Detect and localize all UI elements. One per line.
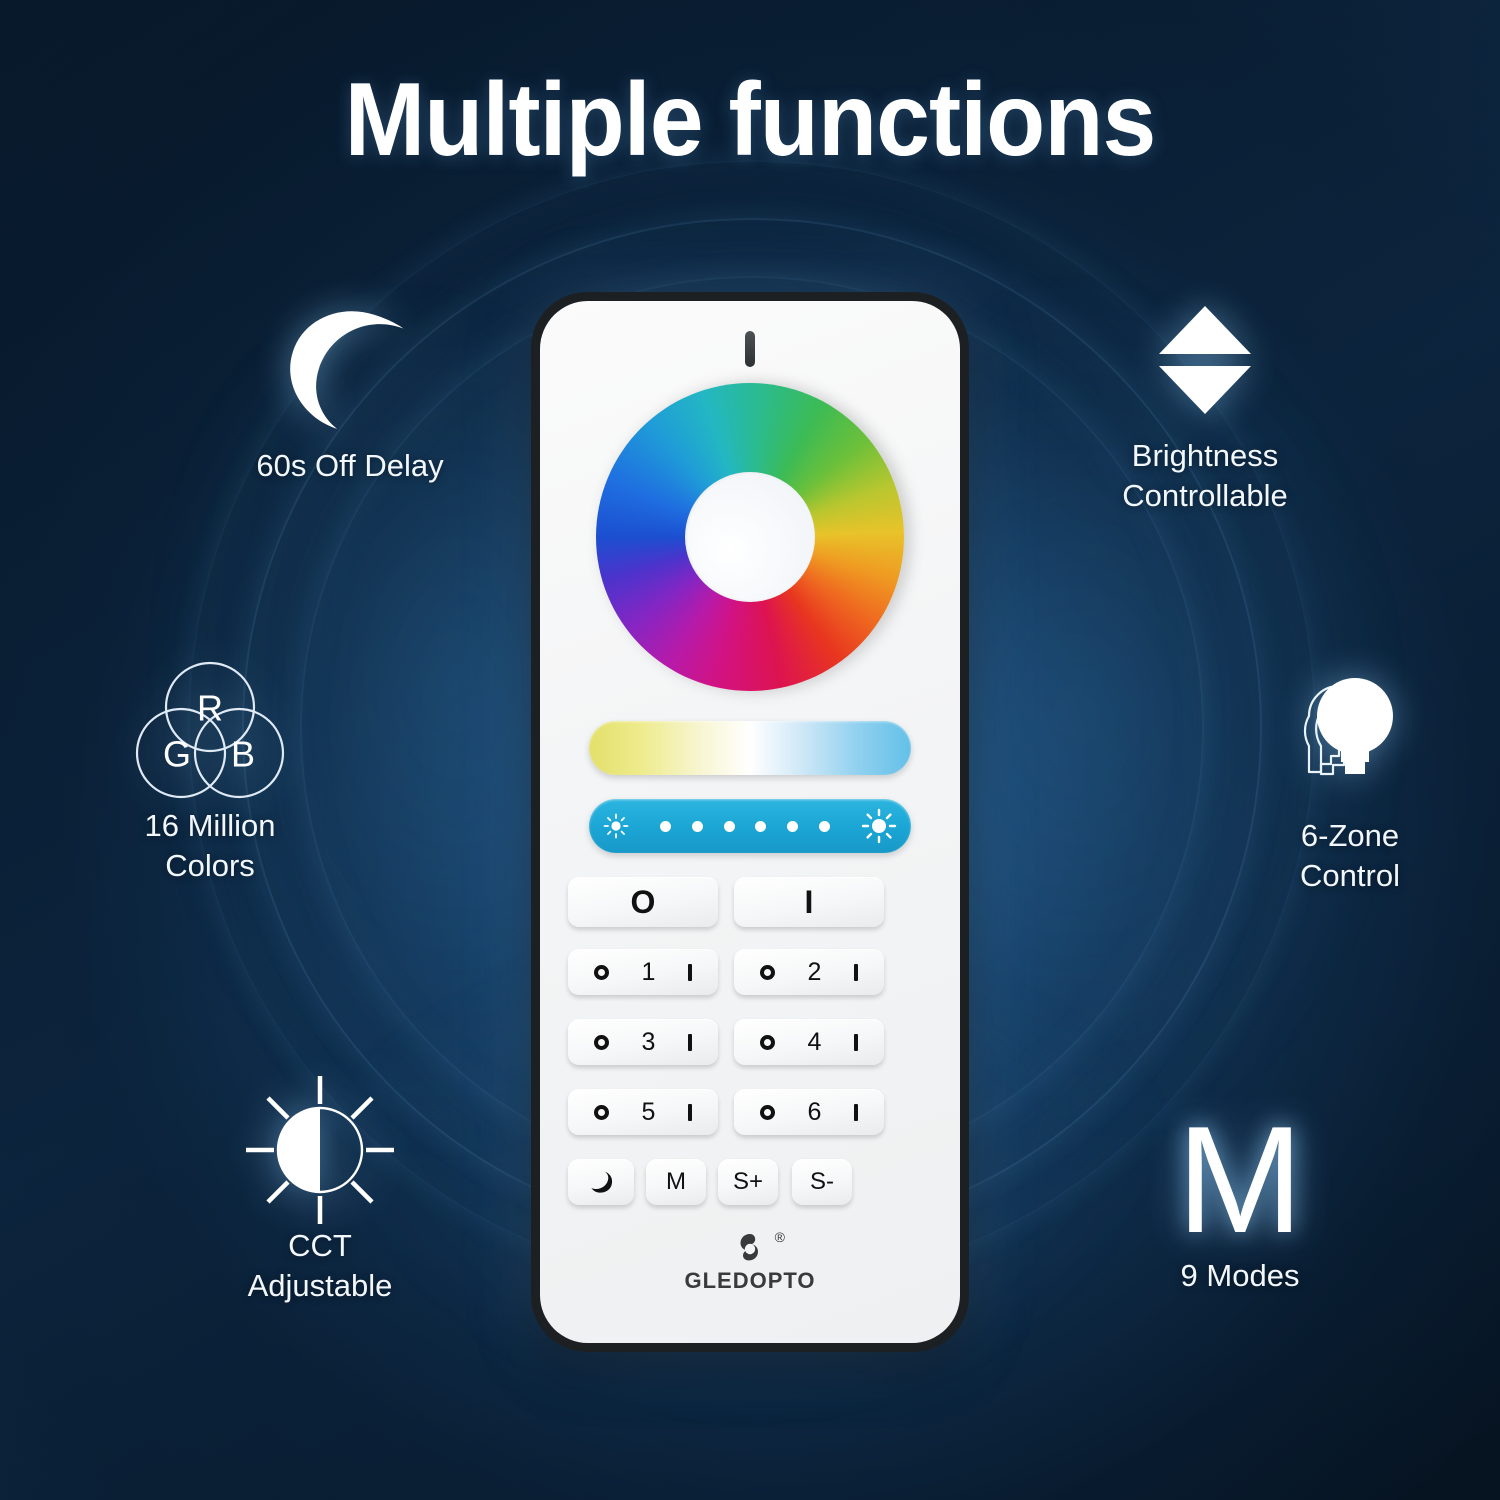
all-on-button[interactable]: I (734, 877, 884, 927)
rgb-color-wheel[interactable] (596, 383, 904, 691)
color-wheel-center-button[interactable] (685, 472, 815, 602)
svg-text:G: G (163, 734, 191, 775)
mode-button-label: M (666, 1168, 686, 1196)
brightness-dot[interactable] (755, 821, 766, 832)
feature-label: 60s Off Delay (160, 446, 540, 486)
brand-logo: ® GLEDOPTO (540, 1231, 960, 1294)
zone-off-icon (760, 965, 775, 980)
mode-button[interactable]: M (646, 1159, 706, 1205)
feature-label: 16 Million Colors (45, 806, 375, 885)
feature-label: Brightness Controllable (1030, 436, 1380, 515)
infographic-canvas: Multiple functions 60s Off Delay R G B 1… (0, 0, 1500, 1500)
speed-up-label: S+ (733, 1168, 763, 1196)
zone-on-icon (854, 1104, 858, 1121)
zone-off-icon (760, 1105, 775, 1120)
speed-down-label: S- (810, 1168, 834, 1196)
all-on-glyph: I (805, 886, 814, 918)
mode-letter: M (1177, 1104, 1304, 1256)
up-down-triangles-icon (1030, 290, 1380, 430)
zone-2-button[interactable]: 2 (734, 949, 884, 995)
svg-text:R: R (197, 688, 223, 729)
zone-3-button[interactable]: 3 (568, 1019, 718, 1065)
feature-off-delay: 60s Off Delay (160, 300, 540, 486)
ir-emitter-icon (745, 331, 755, 367)
crescent-moon-icon (160, 300, 540, 440)
zone-number: 6 (808, 1098, 822, 1127)
brightness-level-dots[interactable] (629, 821, 861, 832)
zone-off-icon (594, 965, 609, 980)
registered-mark: ® (775, 1229, 785, 1245)
all-off-glyph: O (631, 886, 656, 918)
letter-m-glyph: M (1075, 1110, 1405, 1250)
feature-label: CCT Adjustable (155, 1226, 485, 1305)
svg-text:B: B (231, 734, 255, 775)
zone-5-button[interactable]: 5 (568, 1089, 718, 1135)
remote-faceplate: O I 1 2 3 4 (540, 301, 960, 1343)
zone-on-icon (854, 1034, 858, 1051)
brightness-touch-slider[interactable] (589, 799, 911, 853)
feature-label: 6-Zone Control (1185, 816, 1500, 895)
zone-number: 4 (808, 1028, 822, 1057)
zone-number: 2 (808, 958, 822, 987)
feature-cct-adjustable: CCT Adjustable (155, 1080, 485, 1305)
zone-6-button[interactable]: 6 (734, 1089, 884, 1135)
page-title: Multiple functions (53, 68, 1448, 172)
zone-number: 5 (642, 1098, 656, 1127)
half-sun-icon (155, 1080, 485, 1220)
night-mode-button[interactable] (568, 1159, 634, 1205)
feature-6-zone-control: 6-Zone Control (1185, 670, 1500, 895)
gledopto-mark-icon: ® (735, 1231, 765, 1266)
zone-number: 3 (642, 1028, 656, 1057)
feature-9-modes: M 9 Modes (1075, 1110, 1405, 1296)
rgb-venn-circles-icon: R G B (45, 660, 375, 800)
cct-touch-slider[interactable] (589, 721, 911, 775)
zone-off-icon (594, 1035, 609, 1050)
speed-down-button[interactable]: S- (792, 1159, 852, 1205)
speed-up-button[interactable]: S+ (718, 1159, 778, 1205)
small-sun-icon (603, 813, 629, 839)
brightness-dot[interactable] (724, 821, 735, 832)
zone-on-icon (688, 964, 692, 981)
zone-4-button[interactable]: 4 (734, 1019, 884, 1065)
zone-on-icon (688, 1104, 692, 1121)
zone-off-icon (760, 1035, 775, 1050)
brightness-dot[interactable] (819, 821, 830, 832)
zone-1-button[interactable]: 1 (568, 949, 718, 995)
brand-name: GLEDOPTO (540, 1268, 960, 1294)
brightness-dot[interactable] (692, 821, 703, 832)
zone-on-icon (688, 1034, 692, 1051)
feature-16-million-colors: R G B 16 Million Colors (45, 660, 375, 885)
remote-control-device: O I 1 2 3 4 (531, 292, 969, 1352)
large-sun-icon (861, 808, 897, 844)
feature-brightness-controllable: Brightness Controllable (1030, 290, 1380, 515)
zone-on-icon (854, 964, 858, 981)
zone-number: 1 (642, 958, 656, 987)
moon-icon (588, 1169, 614, 1195)
stacked-bulbs-icon (1185, 670, 1500, 810)
brightness-dot[interactable] (660, 821, 671, 832)
all-off-button[interactable]: O (568, 877, 718, 927)
brightness-dot[interactable] (787, 821, 798, 832)
zone-off-icon (594, 1105, 609, 1120)
